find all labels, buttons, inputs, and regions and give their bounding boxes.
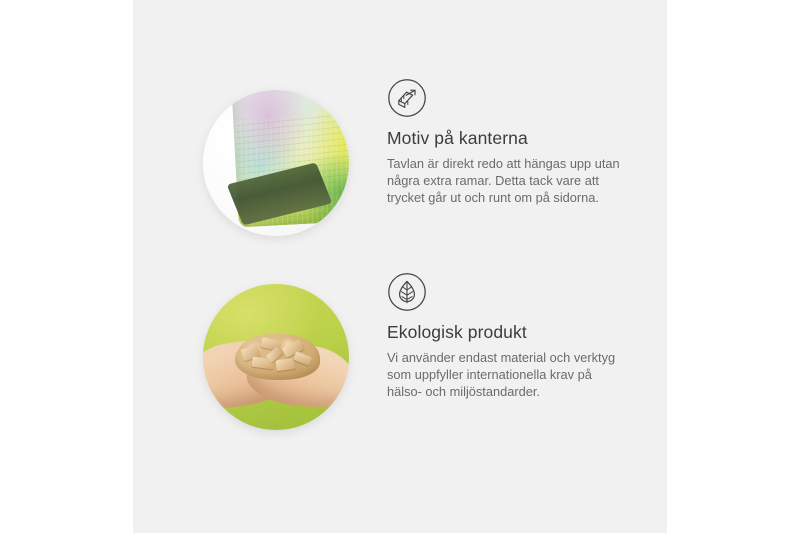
canvas-print-corner-photo [203,90,349,236]
content-panel: Motiv på kanterna Tavlan är direkt redo … [133,0,667,533]
feature-title: Motiv på kanterna [387,127,637,149]
canvas-wrapped-edge-icon [387,78,427,118]
feature-block-motiv-pa-kanterna: Motiv på kanterna Tavlan är direkt redo … [133,78,637,236]
leaf-icon [387,272,427,312]
hands-photo-layers [203,284,349,430]
wood-chip [275,358,295,372]
wood-chip-pile [235,334,320,381]
feature-text-column: Ekologisk produkt Vi använder endast mat… [387,272,637,401]
product-feature-infographic: Motiv på kanterna Tavlan är direkt redo … [0,0,800,533]
feature-description: Tavlan är direkt redo att hängas upp uta… [387,155,627,207]
canvas-photo-layers [203,90,349,236]
hands-holding-wood-chips-photo [203,284,349,430]
feature-title: Ekologisk produkt [387,321,637,343]
feature-block-ekologisk-produkt: Ekologisk produkt Vi använder endast mat… [133,272,637,430]
feature-description: Vi använder endast material och verktyg … [387,349,627,401]
wood-chip [293,351,312,366]
feature-text-column: Motiv på kanterna Tavlan är direkt redo … [387,78,637,207]
